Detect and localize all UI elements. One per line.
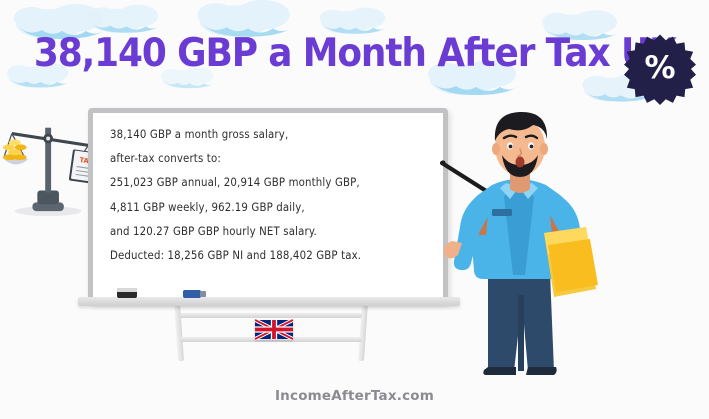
board-line-5: and 120.27 GBP GBP hourly NET salary.: [110, 219, 434, 246]
percent-symbol: %: [624, 33, 696, 105]
percent-badge: %: [624, 33, 696, 105]
gold-coins-icon: [3, 139, 27, 160]
board-line-4: 4,811 GBP weekly, 962.19 GBP daily,: [110, 195, 434, 222]
site-name: IncomeAfterTax.com: [275, 388, 434, 404]
eraser-icon: [117, 288, 137, 298]
board-line-6: Deducted: 18,256 GBP NI and 188,402 GBP …: [110, 244, 434, 271]
whiteboard-ledge: [78, 297, 460, 306]
teacher-character-illustration: [440, 105, 620, 375]
stand-leg-right: [358, 303, 368, 361]
page-title-row: 38,140 GBP a Month After Tax UK: [0, 22, 709, 84]
union-jack-flag-icon: [255, 319, 293, 340]
stand-leg-left: [174, 303, 184, 361]
name-badge: [492, 209, 512, 216]
page-title: 38,140 GBP a Month After Tax UK: [34, 31, 676, 76]
whiteboard-text: 38,140 GBP a month gross salary, after-t…: [88, 108, 448, 303]
blue-marker-icon: [183, 290, 201, 298]
stand-rail-top: [180, 313, 362, 318]
board-line-3: 251,023 GBP annual, 20,914 GBP monthly G…: [110, 171, 434, 198]
folder-icon: [544, 227, 598, 297]
whiteboard: 38,140 GBP a month gross salary, after-t…: [88, 108, 448, 303]
footer: IncomeAfterTax.com: [0, 387, 709, 405]
scale-pan-left: [2, 134, 29, 165]
